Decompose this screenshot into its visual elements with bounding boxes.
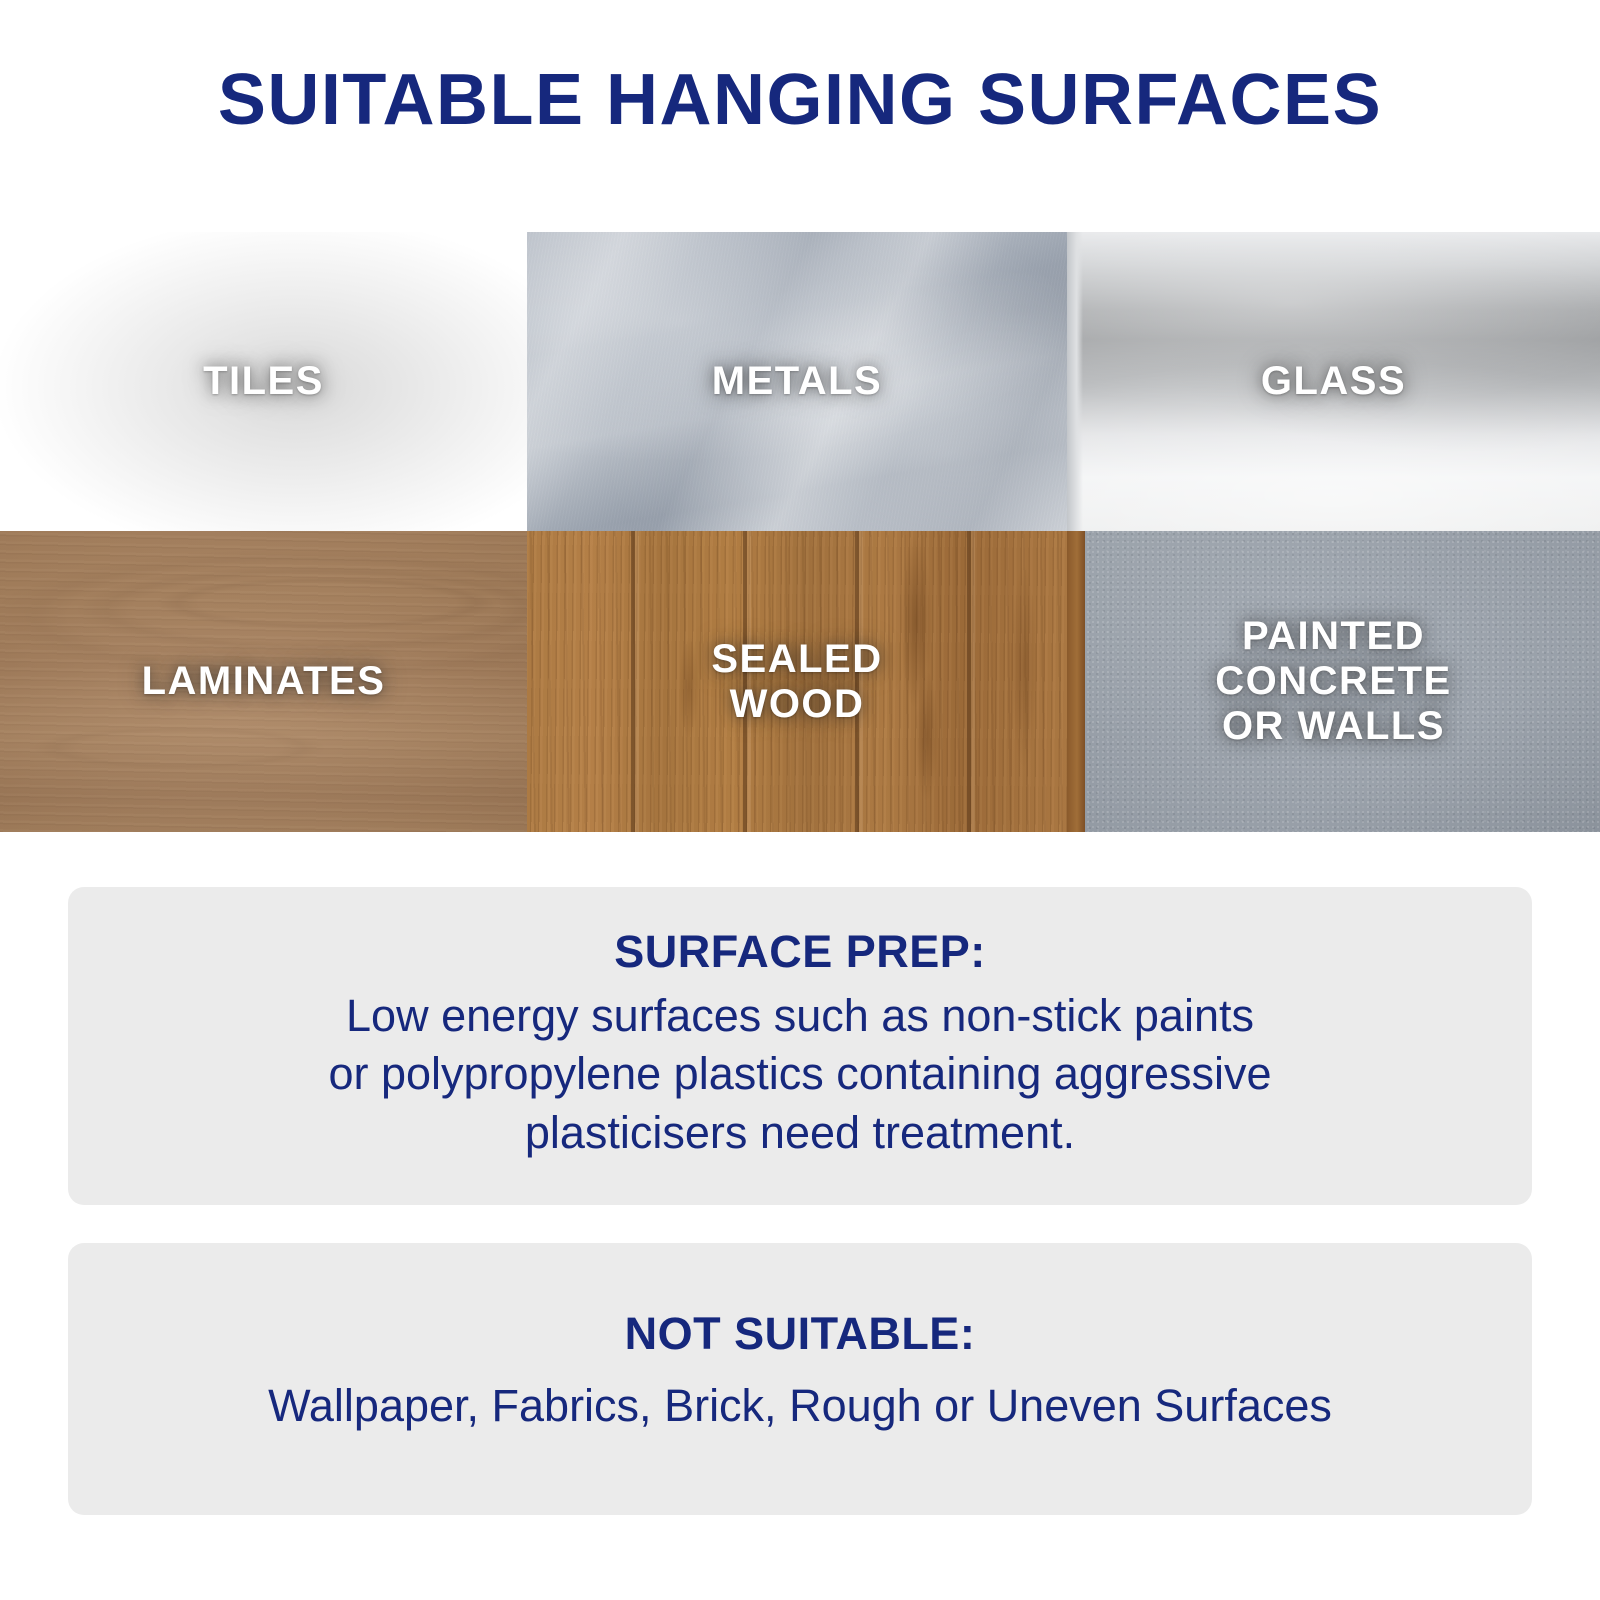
surface-label-sealed-wood: SEALED WOOD xyxy=(711,637,882,727)
surface-prep-heading: SURFACE PREP: xyxy=(68,923,1532,981)
surface-prep-body: Low energy surfaces such as non-stick pa… xyxy=(68,987,1532,1163)
concrete-left-wood-edge xyxy=(1067,531,1085,832)
surface-panel-painted-concrete[interactable]: PAINTED CONCRETE OR WALLS xyxy=(1067,531,1600,832)
surface-label-glass: GLASS xyxy=(1261,359,1406,404)
surface-panel-glass[interactable]: GLASS xyxy=(1067,232,1600,531)
not-suitable-heading: NOT SUITABLE: xyxy=(68,1305,1532,1363)
surface-label-metals: METALS xyxy=(712,359,882,404)
surface-panel-laminates[interactable]: LAMINATES xyxy=(0,531,527,832)
surface-panel-tiles[interactable]: TILES xyxy=(0,232,527,531)
surface-label-tiles: TILES xyxy=(203,359,324,404)
surface-label-laminates: LAMINATES xyxy=(142,659,386,704)
surface-panel-sealed-wood[interactable]: SEALED WOOD xyxy=(527,531,1067,832)
surface-panel-grid: TILES METALS GLASS LAMINATES SEALED WOOD xyxy=(0,232,1600,832)
page-title: SUITABLE HANGING SURFACES xyxy=(0,64,1600,136)
surface-prep-card: SURFACE PREP: Low energy surfaces such a… xyxy=(68,887,1532,1205)
surface-panel-metals[interactable]: METALS xyxy=(527,232,1067,531)
glass-edge-strip xyxy=(1067,232,1083,531)
not-suitable-body: Wallpaper, Fabrics, Brick, Rough or Unev… xyxy=(68,1377,1532,1436)
not-suitable-card: NOT SUITABLE: Wallpaper, Fabrics, Brick,… xyxy=(68,1243,1532,1515)
surface-label-painted-concrete: PAINTED CONCRETE OR WALLS xyxy=(1215,614,1451,748)
